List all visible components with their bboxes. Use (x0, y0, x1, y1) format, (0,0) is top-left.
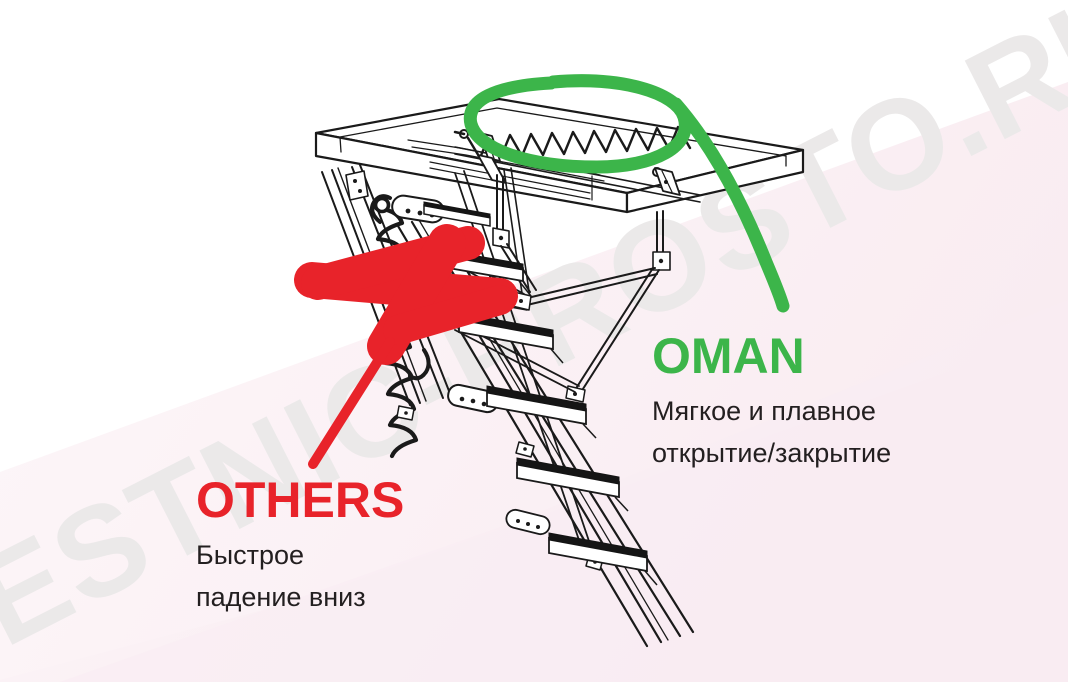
green-pointer-curve (676, 104, 783, 306)
callout-others: OTHERS Быстрое падение вниз (196, 472, 526, 618)
callout-oman: OMAN Мягкое и плавное открытие/закрытие (652, 328, 982, 474)
others-line-1: Быстрое (196, 534, 526, 576)
oman-line-2: открытие/закрытие (652, 432, 982, 474)
oman-title: OMAN (652, 328, 982, 384)
red-cross-out-arrow (312, 243, 500, 464)
comparison-infographic: LESTNIC-PROSTO.RU (0, 0, 1068, 682)
others-line-2: падение вниз (196, 576, 526, 618)
others-title: OTHERS (196, 472, 526, 528)
oman-line-1: Мягкое и плавное (652, 390, 982, 432)
green-highlight-ellipse (470, 81, 685, 167)
